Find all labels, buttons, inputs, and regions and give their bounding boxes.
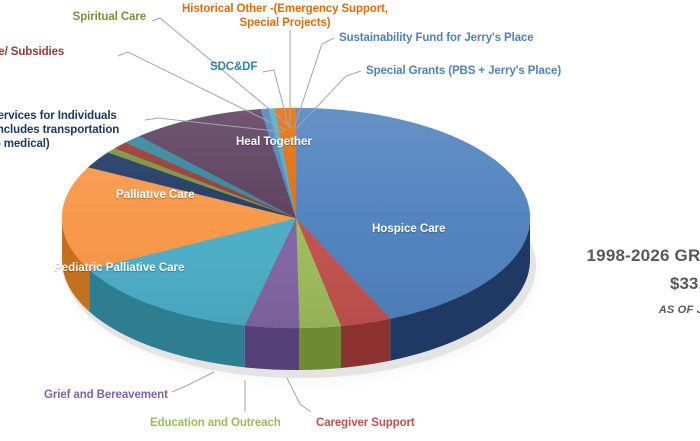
chart-canvas: Spiritual Care ce/ Subsidies Services fo… bbox=[0, 0, 700, 441]
summary-amount: $33,74 bbox=[670, 274, 700, 294]
summary-title: 1998-2026 GRANT bbox=[587, 246, 700, 266]
callout-caregiver-support: Caregiver Support bbox=[316, 416, 415, 430]
summary-as-of: AS OF JUL bbox=[659, 304, 700, 316]
slice-label-palliative-care: Palliative Care bbox=[116, 189, 195, 201]
callout-sdcdf: SDC&DF bbox=[210, 60, 257, 74]
callout-special-grants: Special Grants (PBS + Jerry's Place) bbox=[366, 64, 561, 78]
callout-grief-and-bereavement: Grief and Bereavement bbox=[44, 388, 168, 402]
pie-side-education-and-outreach bbox=[299, 326, 341, 370]
services-line-2: (includes transportation bbox=[0, 123, 119, 137]
historical-other-line-1: Historical Other -(Emergency Support, bbox=[170, 2, 400, 16]
slice-label-hospice-care: Hospice Care bbox=[372, 223, 446, 235]
pie-side-grief-and-bereavement bbox=[245, 325, 300, 370]
callout-historical-other: Historical Other -(Emergency Support, Sp… bbox=[170, 2, 400, 30]
callout-sustainability-fund: Sustainability Fund for Jerry's Place bbox=[339, 31, 534, 45]
pie-chart-3d bbox=[0, 0, 700, 441]
slice-label-pediatric-palliative-care: Pediatric Palliative Care bbox=[54, 262, 184, 274]
historical-other-line-2: Special Projects) bbox=[170, 16, 400, 30]
callout-spiritual-care: Spiritual Care bbox=[0, 10, 146, 24]
callout-education-and-outreach: Education and Outreach bbox=[150, 416, 281, 430]
pie-side-caregiver-support bbox=[341, 319, 390, 368]
callout-services-for-individuals: Services for Individuals (includes trans… bbox=[0, 109, 119, 151]
leader-line bbox=[172, 372, 214, 392]
slice-label-heal-together: Heal Together bbox=[236, 136, 312, 148]
services-line-3: to medical) bbox=[0, 137, 119, 151]
services-line-1: Services for Individuals bbox=[0, 109, 119, 123]
callout-financial-assistance: ce/ Subsidies bbox=[0, 45, 64, 59]
leader-line bbox=[287, 378, 311, 412]
